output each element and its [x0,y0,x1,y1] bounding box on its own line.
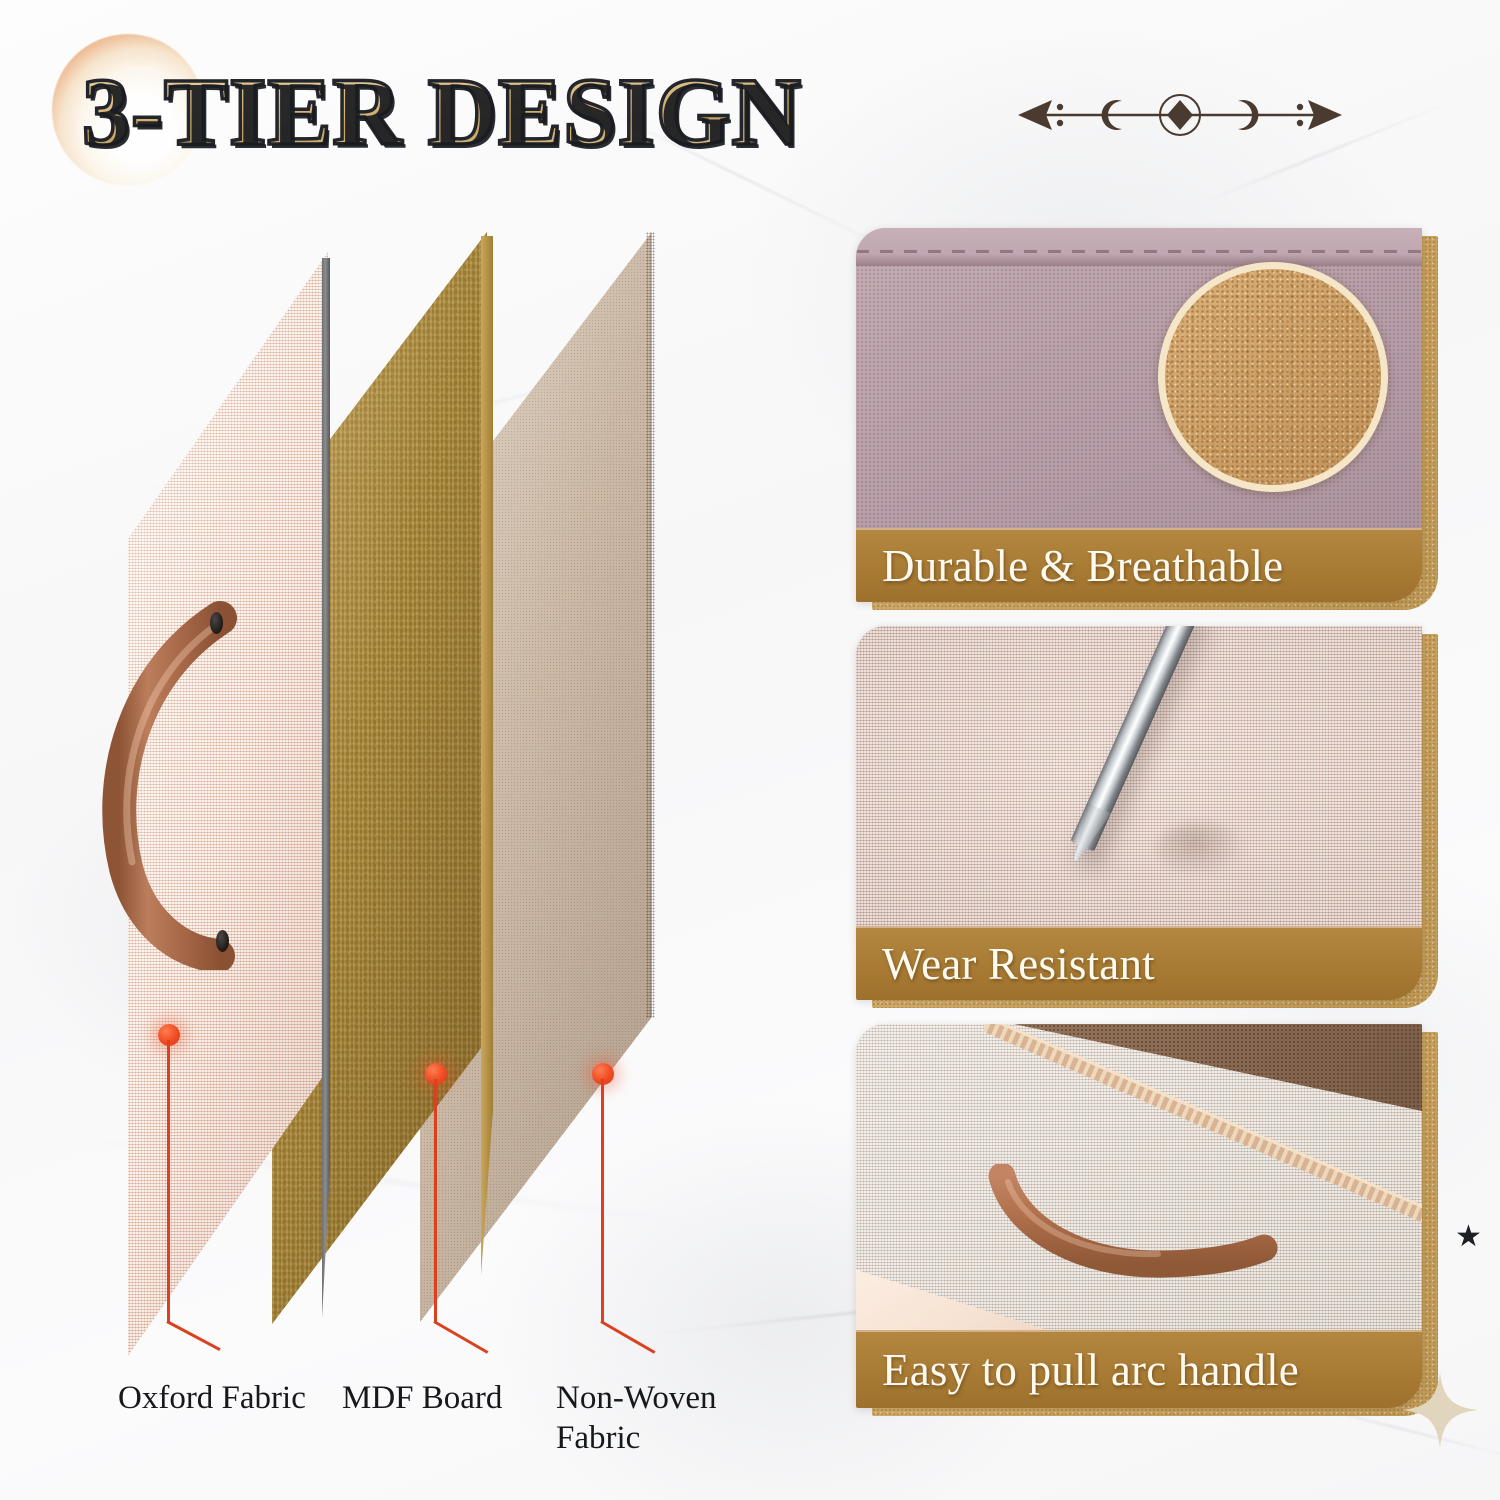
layer-nonwoven-edge [646,232,655,1018]
callout-stem-mdf [434,1079,437,1322]
card-body: Durable & Breathable [856,228,1422,602]
callout-label-nonwoven: Non-Woven Fabric [556,1378,716,1459]
photo-arc-handle [856,1024,1422,1330]
card-body: Easy to pull arc handle [856,1024,1422,1408]
four-point-sparkle-icon [1398,1368,1482,1457]
infographic-canvas: 3-TIER DESIGN [0,0,1500,1500]
callout-kink-oxford [166,1320,220,1351]
stitch-line [856,250,1422,253]
three-layer-material-cutaway: Oxford Fabric MDF Board Non-Woven Fabric [0,0,840,1500]
card-body: Wear Resistant [856,626,1422,1000]
caption-bar: Durable & Breathable [856,528,1422,602]
callout-label-oxford: Oxford Fabric [118,1378,306,1418]
caption-text: Easy to pull arc handle [856,1344,1299,1396]
double-arrow-divider-ornament [1010,92,1350,138]
star-icon: ★ [1455,1222,1482,1252]
awl-press-dimple [1156,822,1246,876]
feature-card-wear[interactable]: Wear Resistant [856,626,1422,1008]
callout-stem-oxford [167,1040,170,1322]
handle-rivet [210,612,223,634]
feature-card-handle[interactable]: Easy to pull arc handle [856,1024,1422,1416]
photo-durable-breathable [856,228,1422,528]
caption-text: Durable & Breathable [856,540,1283,592]
feature-card-durable[interactable]: Durable & Breathable [856,228,1422,610]
layer-mdf-edge [481,236,493,1276]
layer-oxford-edge [322,258,330,1318]
callout-stem-nonwoven [601,1079,604,1322]
callout-label-mdf: MDF Board [342,1378,502,1418]
handle-rivet [216,930,229,952]
cork-texture-zoom-circle [1158,262,1388,492]
feature-card-list: Durable & Breathable Wear Resistant [856,228,1456,1408]
photo-wear-resistant [856,626,1422,926]
caption-bar: Wear Resistant [856,926,1422,1000]
caption-text: Wear Resistant [856,938,1155,990]
callout-kink-nonwoven [600,1320,655,1354]
stitched-hem [856,228,1422,266]
arc-handle [92,600,272,970]
oxford-weave-surface [856,626,1422,926]
arc-handle [988,1164,1278,1280]
callout-kink-mdf [433,1320,488,1354]
caption-bar: Easy to pull arc handle [856,1330,1422,1408]
